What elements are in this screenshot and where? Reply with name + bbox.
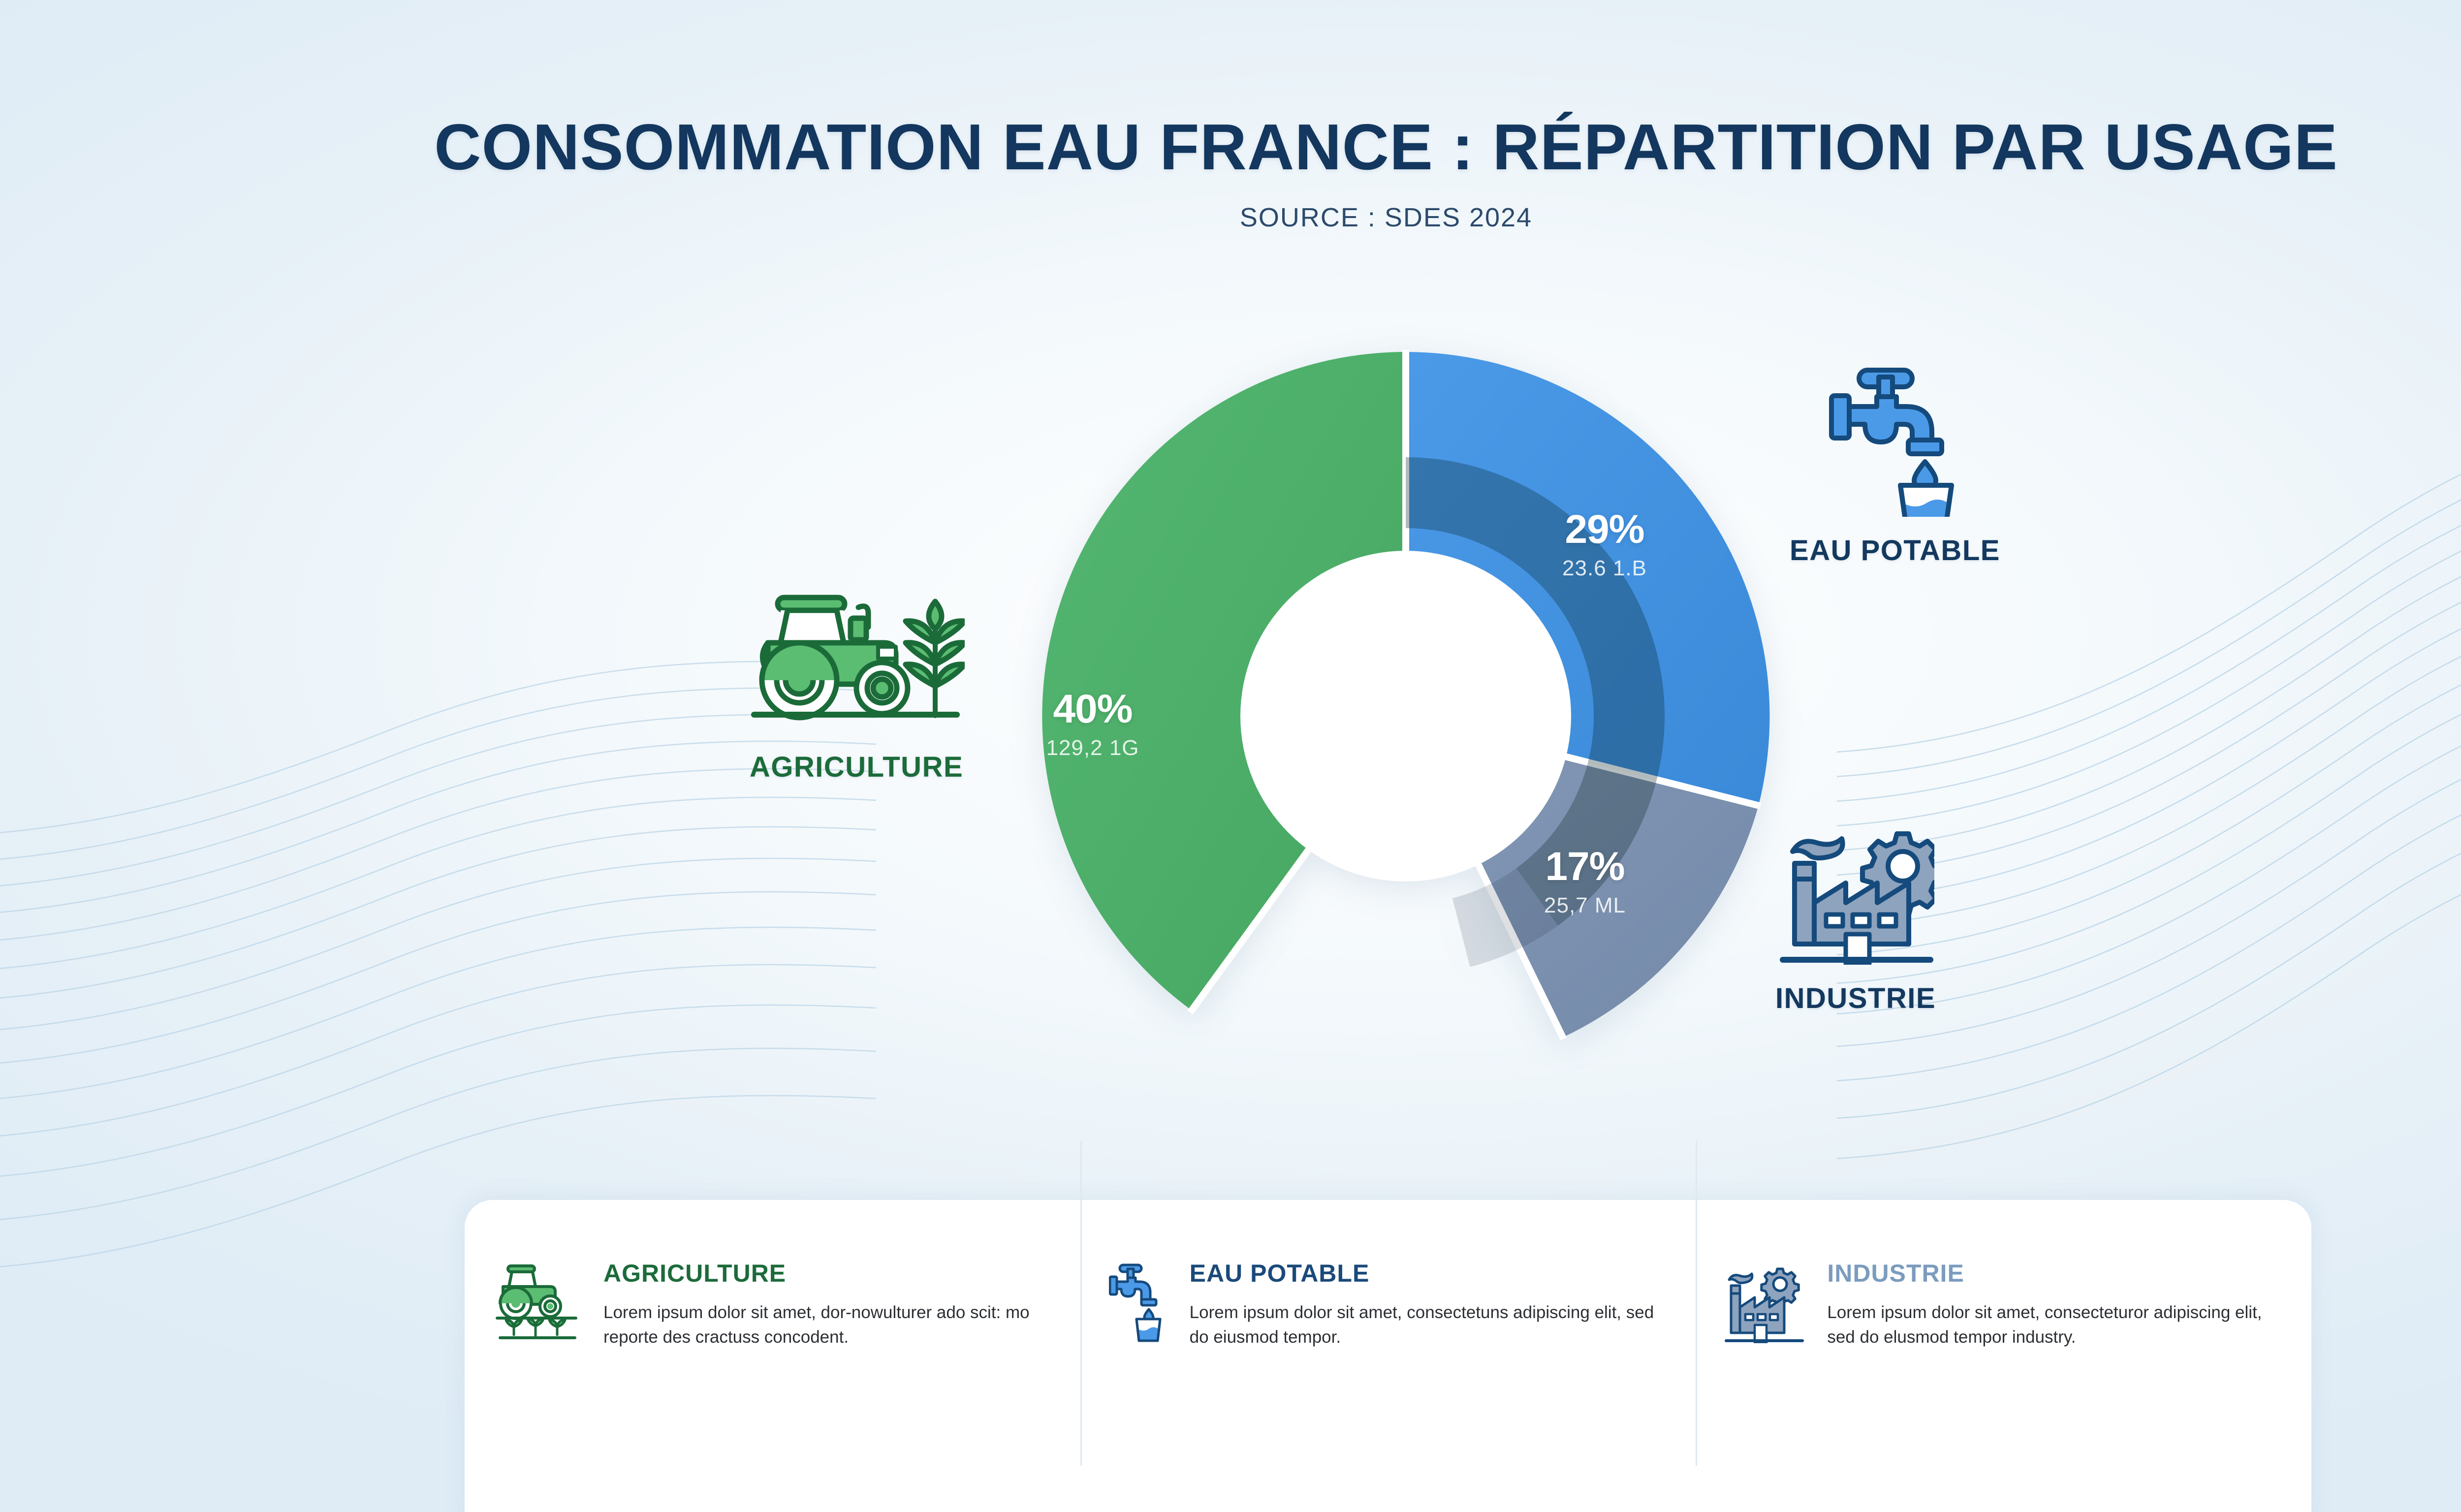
page-title: CONSOMMATION EAU FRANCE : RÉPARTITION PA…	[0, 113, 2461, 182]
chart-legend-label-industrie: INDUSTRIE	[1649, 984, 2062, 1013]
header: CONSOMMATION EAU FRANCE : RÉPARTITION PA…	[0, 113, 2461, 233]
factory-icon	[1724, 1262, 1805, 1343]
tractor-icon	[493, 1262, 582, 1341]
faucet-icon	[1109, 1262, 1168, 1343]
summary-text-agriculture: AGRICULTURE Lorem ipsum dolor sit amet, …	[603, 1258, 1052, 1349]
faucet-icon	[1824, 359, 1966, 517]
summary-item-industrie[interactable]: INDUSTRIE Lorem ipsum dolor sit amet, co…	[1696, 1200, 2311, 1349]
summary-body-agriculture: Lorem ipsum dolor sit amet, dor-nowultur…	[603, 1300, 1052, 1349]
summary-title-eau-potable: EAU POTABLE	[1190, 1261, 1668, 1286]
donut-center-hole	[1240, 551, 1571, 882]
summary-text-eau-potable: EAU POTABLE Lorem ipsum dolor sit amet, …	[1190, 1258, 1668, 1349]
summary-title-industrie: INDUSTRIE	[1827, 1261, 2283, 1286]
chart-legend-label-agriculture: AGRICULTURE	[660, 753, 1053, 782]
summary-card: AGRICULTURE Lorem ipsum dolor sit amet, …	[465, 1200, 2311, 1512]
chart-legend-industrie[interactable]: INDUSTRIE	[1649, 812, 2062, 1013]
summary-item-agriculture[interactable]: AGRICULTURE Lorem ipsum dolor sit amet, …	[465, 1200, 1080, 1349]
chart-legend-agriculture[interactable]: AGRICULTURE	[660, 586, 1053, 782]
chart-legend-label-eau-potable: EAU POTABLE	[1688, 536, 2102, 565]
chart-legend-eau-potable[interactable]: EAU POTABLE	[1688, 359, 2102, 565]
tractor-icon	[748, 586, 965, 733]
summary-body-industrie: Lorem ipsum dolor sit amet, consecteturo…	[1827, 1300, 2283, 1349]
summary-body-eau-potable: Lorem ipsum dolor sit amet, consectetuns…	[1190, 1300, 1668, 1349]
summary-item-eau-potable[interactable]: EAU POTABLE Lorem ipsum dolor sit amet, …	[1080, 1200, 1696, 1349]
summary-text-industrie: INDUSTRIE Lorem ipsum dolor sit amet, co…	[1827, 1258, 2283, 1349]
factory-icon	[1777, 812, 1934, 965]
summary-title-agriculture: AGRICULTURE	[603, 1261, 1052, 1286]
page-subtitle: SOURCE : SDES 2024	[0, 202, 2461, 233]
